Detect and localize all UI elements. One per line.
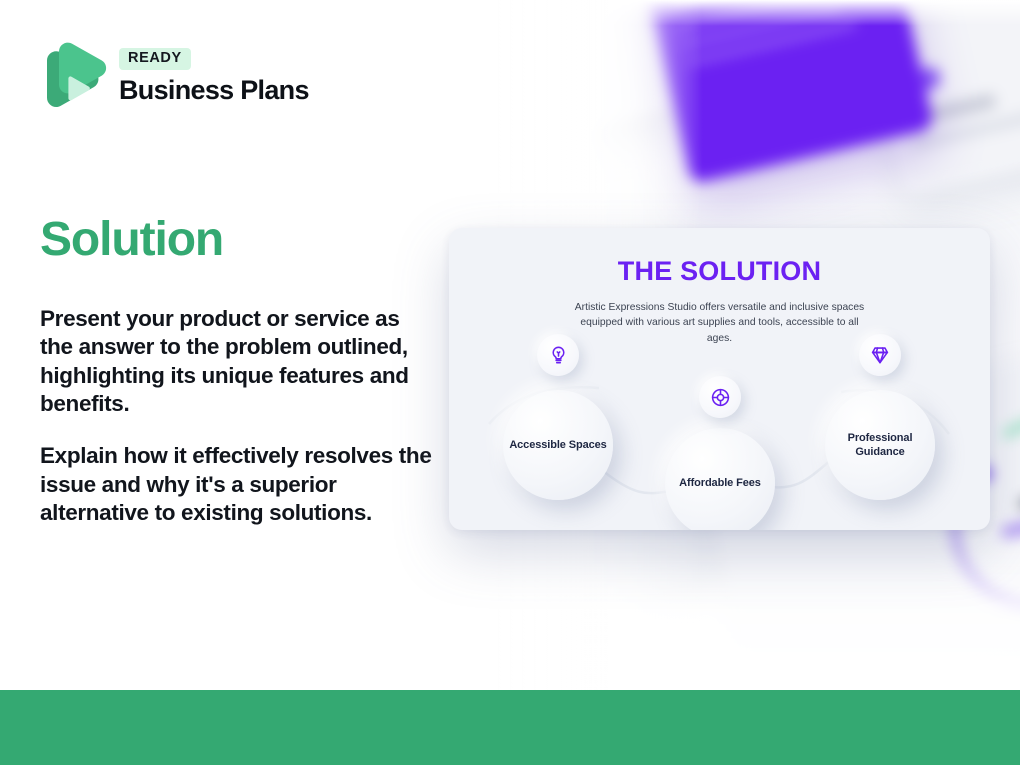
feature-bubble-accessible-spaces[interactable]: Accessible Spaces (503, 390, 613, 500)
brand-name: Business Plans (119, 76, 309, 106)
feature-bubble-professional-guidance[interactable]: Professional Guidance (825, 390, 935, 500)
ready-badge: READY (119, 48, 191, 70)
body-copy: Present your product or service as the a… (40, 305, 432, 527)
footer-bar (0, 690, 1020, 765)
slide-canvas: READY Business Plans Solution Present yo… (0, 0, 1020, 765)
brand-text-block: READY Business Plans (119, 46, 309, 106)
feature-label: Professional Guidance (825, 431, 935, 459)
lightbulb-icon (537, 334, 579, 376)
solution-slide-card[interactable]: THE SOLUTION Artistic Expressions Studio… (449, 228, 990, 530)
feature-bubble-affordable-fees[interactable]: Affordable Fees (665, 428, 775, 530)
page-title: Solution (40, 215, 223, 265)
feature-label: Accessible Spaces (509, 438, 606, 452)
brand-lockup: READY Business Plans (41, 40, 309, 112)
body-paragraph-1: Present your product or service as the a… (40, 305, 432, 418)
body-paragraph-2: Explain how it effectively resolves the … (40, 442, 432, 527)
feature-label: Affordable Fees (679, 476, 761, 490)
play-triangle-logo-icon (41, 40, 107, 112)
diamond-icon (859, 334, 901, 376)
lifebuoy-icon (699, 376, 741, 418)
feature-bubbles: Accessible Spaces Affordable Fees (449, 228, 990, 530)
